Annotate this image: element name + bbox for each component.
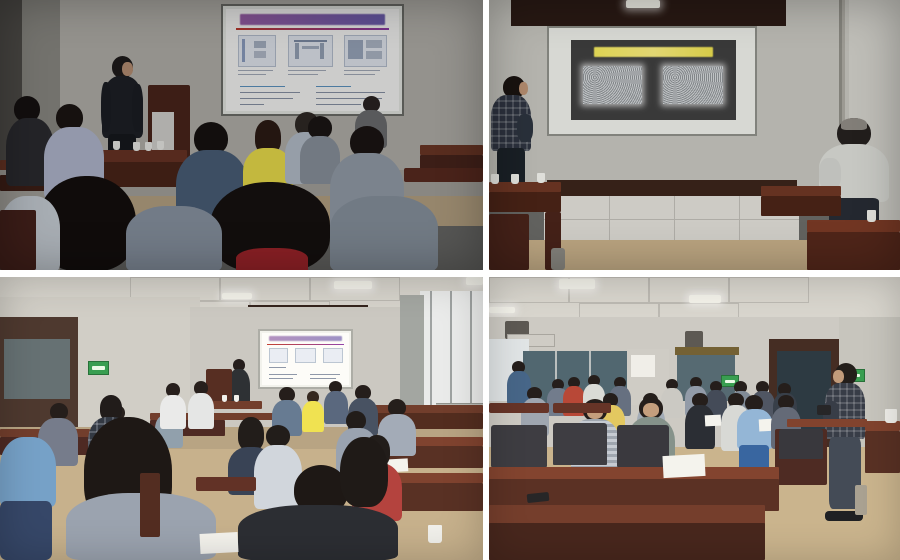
desk — [865, 431, 900, 473]
photo-bottom-right — [489, 277, 900, 560]
scene-lecture-hall — [0, 0, 483, 270]
chair — [491, 425, 547, 467]
window-frame — [400, 295, 424, 413]
desk-foreground — [807, 220, 900, 232]
whiteboard — [547, 26, 757, 136]
desk — [761, 196, 841, 216]
long-desk-lower — [489, 505, 765, 525]
projected-slide — [571, 40, 736, 120]
paper-cup — [511, 174, 519, 184]
photo-bottom-left — [0, 277, 483, 560]
desk-row — [396, 483, 483, 511]
attendee-foreground — [330, 437, 400, 537]
paper-cup — [867, 210, 876, 222]
slide-accent-rule — [236, 28, 388, 30]
scene-audience-qa — [489, 277, 900, 560]
poster — [631, 355, 655, 377]
attendee — [737, 395, 773, 471]
wooden-valance — [675, 347, 739, 355]
scene-whiteboard — [489, 0, 900, 270]
desk — [420, 145, 483, 155]
exit-sign — [88, 361, 109, 375]
door-glass — [4, 339, 70, 399]
desk-foreground — [807, 232, 900, 270]
paper-cup — [157, 141, 164, 150]
micrograph-right — [663, 66, 722, 104]
slide-figure-1 — [238, 35, 276, 68]
gutter-horizontal — [0, 270, 900, 277]
scene-classroom-wide — [0, 277, 483, 560]
ceiling-light — [559, 279, 595, 289]
desk — [761, 186, 841, 196]
attendee-foreground — [210, 182, 330, 270]
gutter-vertical — [483, 0, 489, 560]
slide-surface — [262, 333, 349, 385]
ceiling-light — [334, 281, 372, 289]
photo-top-left — [0, 0, 483, 270]
paper-cup — [537, 173, 545, 183]
handheld-device — [817, 405, 831, 415]
note-paper — [200, 532, 239, 554]
slide-figure-2 — [288, 35, 333, 68]
ceiling-light — [222, 293, 252, 299]
attendee — [685, 393, 715, 449]
paper-cup — [145, 142, 152, 151]
paper-cup — [222, 395, 227, 402]
paper-cup — [234, 395, 239, 402]
photo-collage — [0, 0, 900, 560]
desk — [489, 192, 561, 212]
slide-title-bar — [240, 14, 385, 25]
water-bottle — [855, 485, 867, 515]
ceiling-light — [689, 295, 721, 303]
paper-cup — [133, 142, 140, 151]
presenter — [491, 76, 533, 181]
attendee-foreground — [330, 196, 438, 270]
paper-cup — [885, 409, 897, 423]
paper-cup — [428, 525, 442, 543]
slide-title-bar — [594, 47, 713, 57]
projector-screen — [258, 329, 353, 389]
photo-top-right — [489, 0, 900, 270]
long-desk-lower-front — [489, 523, 765, 560]
desk — [787, 419, 867, 427]
chair — [553, 423, 607, 465]
chair — [617, 425, 669, 467]
attendee-foreground — [126, 206, 222, 270]
paper-cup — [491, 174, 499, 184]
desk — [489, 182, 561, 192]
ceiling-light — [466, 277, 483, 285]
ceiling-light — [626, 0, 660, 8]
ceiling-light — [489, 307, 515, 313]
slide-figure-3 — [344, 35, 387, 68]
attendee-foreground — [0, 437, 56, 560]
note-paper — [662, 454, 705, 478]
desk-row — [396, 473, 483, 483]
paper-cup — [113, 141, 120, 150]
attendee — [302, 391, 324, 431]
flask — [551, 248, 565, 270]
micrograph-left — [583, 66, 642, 104]
